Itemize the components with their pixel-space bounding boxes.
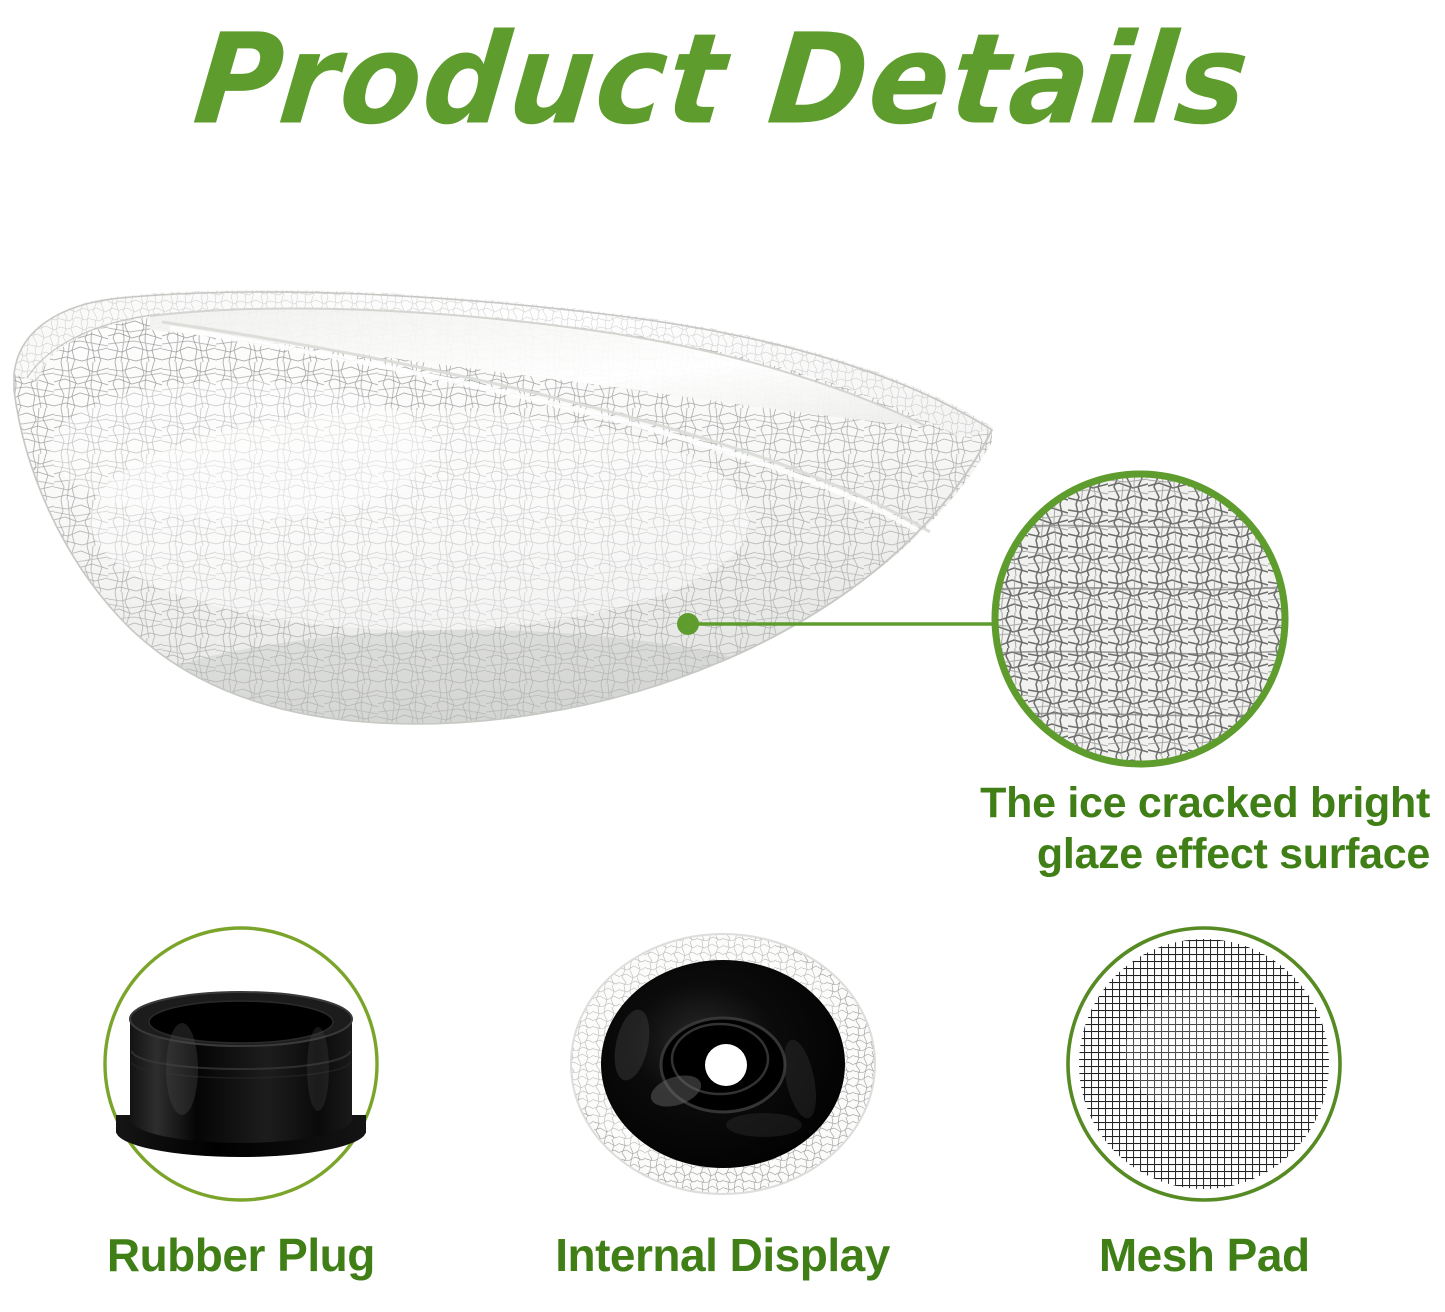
hero-caption-line2: glaze effect surface [700, 829, 1430, 880]
title-bar: Product Details [0, 14, 1445, 144]
feature-internal-display: Internal Display [482, 905, 964, 1312]
rubber-plug-image [86, 919, 396, 1209]
internal-display-svg [568, 919, 878, 1209]
drain-hole [705, 1044, 747, 1086]
mesh-pad-svg [1049, 919, 1359, 1209]
feature-mesh-pad: Mesh Pad [963, 905, 1445, 1312]
internal-display-image [568, 919, 878, 1209]
feature-label-internal-display: Internal Display [482, 1227, 964, 1283]
page-title: Product Details [189, 16, 1255, 141]
feature-label-rubber-plug: Rubber Plug [0, 1227, 482, 1283]
leader-line-svg [676, 612, 1006, 636]
feature-label-mesh-pad: Mesh Pad [963, 1227, 1445, 1283]
mesh-pad-image [1049, 919, 1359, 1209]
rubber-plug-svg [86, 919, 396, 1209]
product-bowl-image [0, 270, 1030, 740]
feature-row: Rubber Plug [0, 905, 1445, 1312]
callout-leader-line [676, 612, 1006, 636]
feature-rubber-plug: Rubber Plug [0, 905, 482, 1312]
magnifier-svg [988, 468, 1292, 770]
callout-dot [677, 613, 699, 635]
magnified-surface-callout [988, 468, 1292, 770]
hero-caption: The ice cracked bright glaze effect surf… [700, 778, 1430, 880]
hero-section: The ice cracked bright glaze effect surf… [0, 150, 1445, 910]
hero-caption-line1: The ice cracked bright [700, 778, 1430, 829]
bowl-illustration [0, 270, 1030, 740]
